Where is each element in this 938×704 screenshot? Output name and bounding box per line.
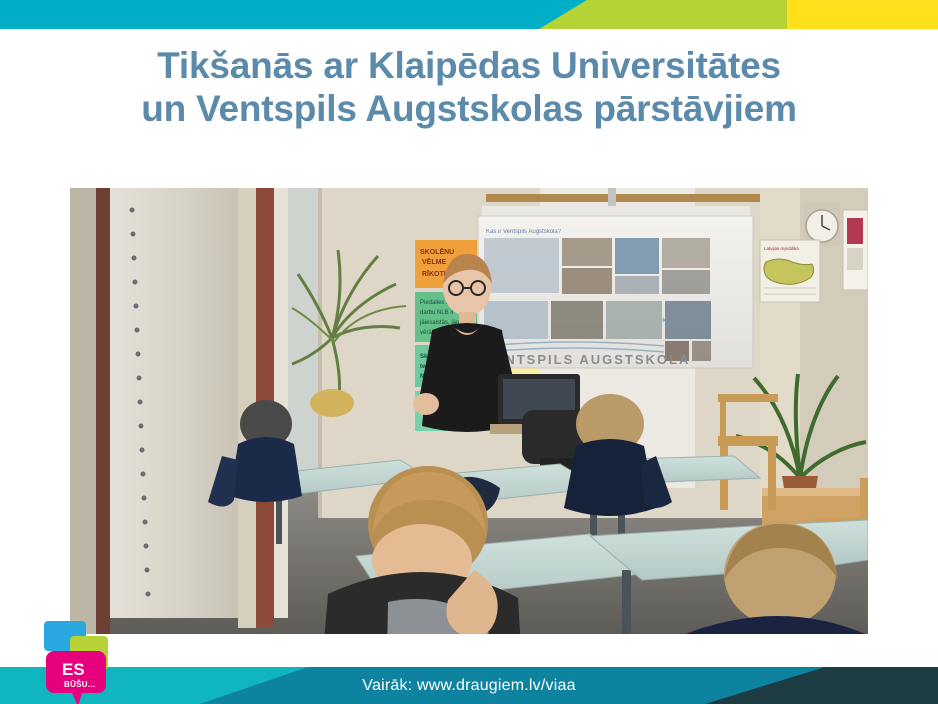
svg-text:Kas ir Ventspils Augstskola?: Kas ir Ventspils Augstskola? — [486, 229, 562, 235]
footer-link-text[interactable]: Vairāk: www.draugiem.lv/viaa — [0, 667, 938, 704]
top-bar-yellow-segment — [787, 0, 938, 29]
logo-text-busu: BŪŠU... — [64, 680, 95, 689]
es-busu-logo[interactable]: ES BŪŠU... — [44, 621, 126, 704]
svg-text:SKOLĒNU: SKOLĒNU — [420, 248, 454, 256]
classroom-photo: SKOLĒNUVĒLMERĪKOTIES ! Piedalies ar savu… — [70, 188, 868, 634]
classroom-photo-illustration: SKOLĒNUVĒLMERĪKOTIES ! Piedalies ar savu… — [70, 188, 868, 634]
svg-text:darbu NLB ir: darbu NLB ir — [420, 310, 454, 316]
svg-text:vērā: vērā — [420, 330, 432, 336]
top-decorative-bar — [0, 0, 938, 29]
svg-text:VENTSPILS AUGSTSKOLA: VENTSPILS AUGSTSKOLA — [484, 352, 690, 367]
slide-title: Tikšanās ar Klaipēdas Universitātes un V… — [0, 44, 938, 130]
bottom-decorative-bar: Vairāk: www.draugiem.lv/viaa — [0, 667, 938, 704]
slide-title-line-1: Tikšanās ar Klaipēdas Universitātes — [0, 44, 938, 87]
logo-text-es: ES — [62, 660, 85, 679]
es-busu-logo-shapes: ES BŪŠU... — [44, 621, 126, 704]
top-bar-shapes — [0, 0, 938, 29]
slide-title-line-2: un Ventspils Augstskolas pārstāvjiem — [0, 87, 938, 130]
svg-text:VĒLME: VĒLME — [422, 258, 446, 266]
svg-text:Latvijas republika: Latvijas republika — [764, 246, 799, 251]
